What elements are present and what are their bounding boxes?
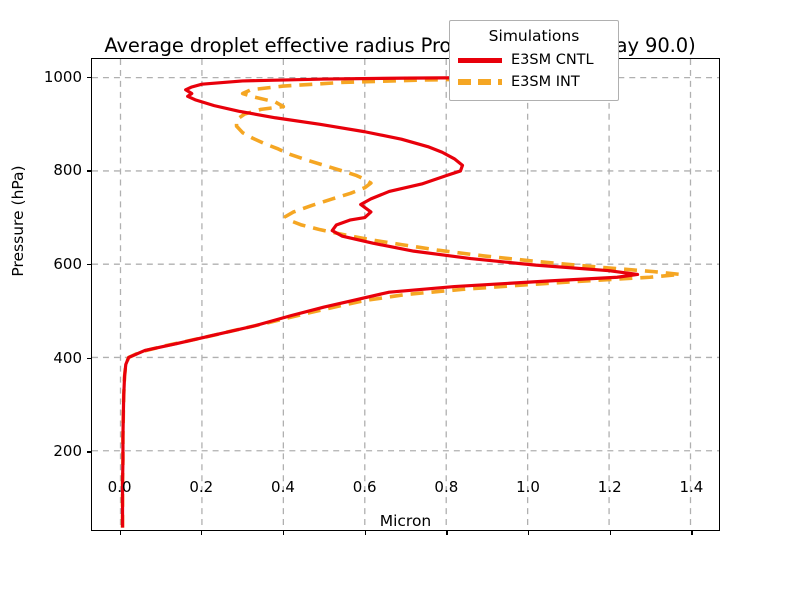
- legend-item-e3sm-int[interactable]: E3SM INT: [458, 71, 610, 93]
- plot-area: [91, 58, 720, 531]
- x-tick-mark: [610, 531, 611, 535]
- y-tick-mark: [87, 77, 91, 78]
- y-tick-mark: [87, 264, 91, 265]
- y-tick-mark: [87, 358, 91, 359]
- y-tick-label: 400: [34, 349, 82, 367]
- legend-swatch-e3sm-cntl: [458, 58, 502, 63]
- y-tick-mark: [87, 451, 91, 452]
- legend-swatch-e3sm-int: [458, 79, 502, 85]
- figure: Average droplet effective radius Profile…: [0, 0, 800, 600]
- x-tick-mark: [120, 531, 121, 535]
- x-tick-label: 0.0: [108, 478, 132, 496]
- y-axis-label: Pressure (hPa): [9, 21, 27, 421]
- x-tick-label: 0.6: [353, 478, 377, 496]
- x-tick-mark: [365, 531, 366, 535]
- x-tick-label: 0.4: [271, 478, 295, 496]
- y-tick-label: 200: [34, 442, 82, 460]
- x-tick-mark: [201, 531, 202, 535]
- x-tick-label: 1.4: [679, 478, 703, 496]
- x-tick-mark: [528, 531, 529, 535]
- x-tick-label: 0.8: [434, 478, 458, 496]
- legend-item-e3sm-cntl[interactable]: E3SM CNTL: [458, 49, 610, 71]
- x-tick-label: 0.2: [189, 478, 213, 496]
- legend-label-e3sm-int: E3SM INT: [511, 74, 580, 90]
- legend-label-e3sm-cntl: E3SM CNTL: [511, 52, 594, 68]
- legend[interactable]: Simulations E3SM CNTL E3SM INT: [449, 20, 619, 101]
- y-tick-mark: [87, 170, 91, 171]
- y-tick-label: 600: [34, 255, 82, 273]
- x-tick-label: 1.2: [598, 478, 622, 496]
- y-tick-label: 1000: [34, 68, 82, 86]
- x-tick-mark: [283, 531, 284, 535]
- data-curves: [92, 59, 719, 530]
- y-tick-label: 800: [34, 161, 82, 179]
- curve-e3sm-cntl: [123, 78, 638, 528]
- x-axis-label: Micron: [91, 512, 720, 530]
- x-tick-mark: [446, 531, 447, 535]
- legend-title: Simulations: [458, 27, 610, 45]
- curve-e3sm-int: [123, 78, 681, 528]
- x-tick-mark: [691, 531, 692, 535]
- chart-title: Average droplet effective radius Profile…: [0, 34, 800, 57]
- x-tick-label: 1.0: [516, 478, 540, 496]
